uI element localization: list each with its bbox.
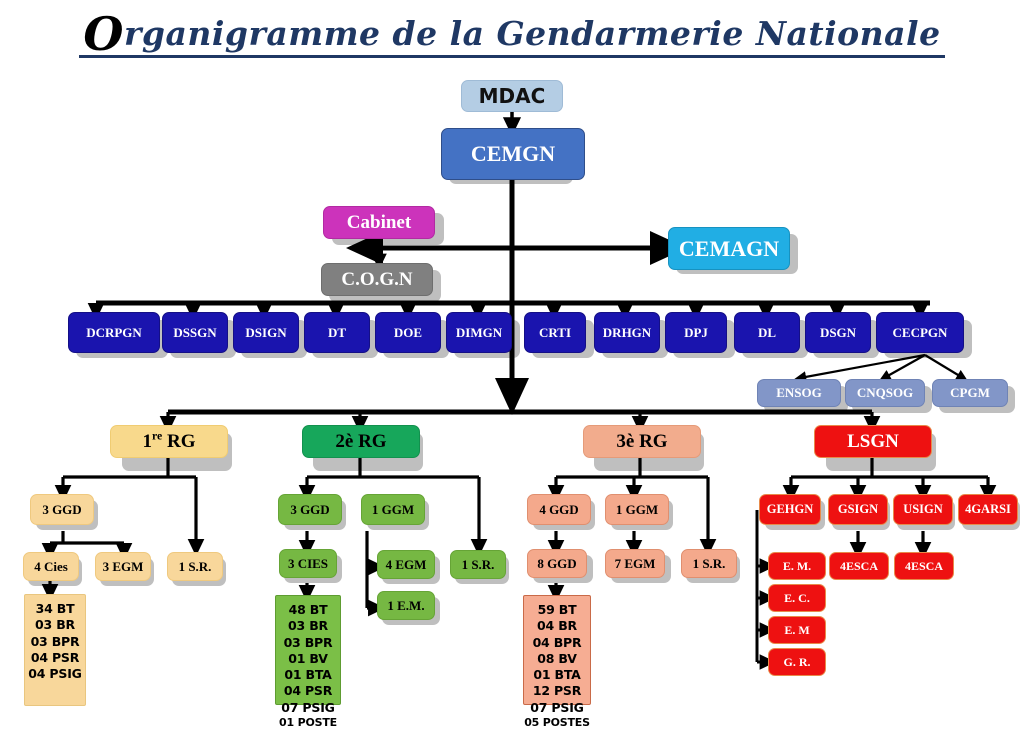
title-rest: rganigramme de la Gendarmerie Nationale xyxy=(124,14,941,53)
list-region-1: 34 BT03 BR03 BPR04 PSR04 PSIG xyxy=(24,594,86,706)
region-1-label: 1re RG xyxy=(143,432,196,452)
list-region-2: 48 BT03 BR03 BPR01 BV01 BTA04 PSR07 PSIG… xyxy=(275,595,341,705)
list-item: 03 BR xyxy=(35,617,75,633)
list-item: 12 PSR xyxy=(533,683,581,699)
node-cogn[interactable]: C.O.G.N xyxy=(321,263,433,296)
node-directorate-dsgn[interactable]: DSGN xyxy=(805,312,871,353)
node-gehgn-gr[interactable]: G. R. xyxy=(768,648,826,676)
node-rg3-8ggd[interactable]: 8 GGD xyxy=(527,549,587,578)
list-item: 03 BR xyxy=(288,618,328,634)
list-item: 34 BT xyxy=(36,601,75,617)
node-directorate-dsign[interactable]: DSIGN xyxy=(233,312,299,353)
node-usign[interactable]: USIGN xyxy=(893,494,953,525)
list-item: 05 POSTES xyxy=(524,716,590,730)
node-rg1-4cies[interactable]: 4 Cies xyxy=(23,552,79,581)
list-item: 59 BT xyxy=(538,602,577,618)
node-rg3-1sr[interactable]: 1 S.R. xyxy=(681,549,737,578)
node-4garsi[interactable]: 4GARSI xyxy=(958,494,1018,525)
node-region-2[interactable]: 2è RG xyxy=(302,425,420,458)
list-item: 01 BTA xyxy=(533,667,580,683)
node-usign-4esca[interactable]: 4ESCA xyxy=(894,552,954,580)
node-rg3-1ggm[interactable]: 1 GGM xyxy=(605,494,669,525)
list-item: 04 BPR xyxy=(533,635,582,651)
node-rg1-3ggd[interactable]: 3 GGD xyxy=(30,494,94,525)
chart-title: Organigramme de la Gendarmerie Nationale xyxy=(79,14,944,58)
node-gsign-4esca[interactable]: 4ESCA xyxy=(829,552,889,580)
node-gehgn-em2[interactable]: E. M xyxy=(768,616,826,644)
node-rg2-3cies[interactable]: 3 CIES xyxy=(279,549,337,578)
node-directorate-dimgn[interactable]: DIMGN xyxy=(446,312,512,353)
node-directorate-doe[interactable]: DOE xyxy=(375,312,441,353)
organigramme-canvas: Organigramme de la Gendarmerie Nationale xyxy=(0,0,1024,724)
node-directorate-dcrpgn[interactable]: DCRPGN xyxy=(68,312,160,353)
node-gehgn-em1[interactable]: E. M. xyxy=(768,552,826,580)
node-rg2-4egm[interactable]: 4 EGM xyxy=(377,550,435,579)
node-cemagn[interactable]: CEMAGN xyxy=(668,227,790,270)
node-directorate-drhgn[interactable]: DRHGN xyxy=(594,312,660,353)
list-region-3: 59 BT04 BR04 BPR08 BV01 BTA12 PSR07 PSIG… xyxy=(523,595,591,705)
node-gehgn[interactable]: GEHGN xyxy=(759,494,821,525)
list-item: 48 BT xyxy=(289,602,328,618)
list-item: 03 BPR xyxy=(31,634,80,650)
node-rg3-4ggd[interactable]: 4 GGD xyxy=(527,494,591,525)
node-rg1-1sr[interactable]: 1 S.R. xyxy=(167,552,223,581)
node-rg2-1sr[interactable]: 1 S.R. xyxy=(450,550,506,579)
node-rg2-3ggd[interactable]: 3 GGD xyxy=(278,494,342,525)
node-rg2-1ggm[interactable]: 1 GGM xyxy=(361,494,425,525)
node-rg1-3egm[interactable]: 3 EGM xyxy=(95,552,151,581)
node-school-cnqsog[interactable]: CNQSOG xyxy=(845,379,925,407)
node-rg3-7egm[interactable]: 7 EGM xyxy=(605,549,665,578)
node-region-3[interactable]: 3è RG xyxy=(583,425,701,458)
list-item: 04 PSIG xyxy=(28,666,81,682)
node-directorate-dt[interactable]: DT xyxy=(304,312,370,353)
node-cemgn[interactable]: CEMGN xyxy=(441,128,585,180)
node-directorate-crti[interactable]: CRTI xyxy=(524,312,586,353)
node-gsign[interactable]: GSIGN xyxy=(828,494,888,525)
chart-title-wrap: Organigramme de la Gendarmerie Nationale xyxy=(0,14,1024,58)
node-directorate-dl[interactable]: DL xyxy=(734,312,800,353)
node-gehgn-ec[interactable]: E. C. xyxy=(768,584,826,612)
list-item: 01 BV xyxy=(288,651,327,667)
node-mdac[interactable]: MDAC xyxy=(461,80,563,112)
node-directorate-dssgn[interactable]: DSSGN xyxy=(162,312,228,353)
list-item: 03 BPR xyxy=(284,635,333,651)
list-item: 04 PSR xyxy=(31,650,79,666)
node-region-1[interactable]: 1re RG xyxy=(110,425,228,458)
list-item: 08 BV xyxy=(537,651,576,667)
node-cabinet[interactable]: Cabinet xyxy=(323,206,435,239)
node-school-cpgm[interactable]: CPGM xyxy=(932,379,1008,407)
node-school-ensog[interactable]: ENSOG xyxy=(757,379,841,407)
list-item: 04 PSR xyxy=(284,683,332,699)
node-region-lsgn[interactable]: LSGN xyxy=(814,425,932,458)
list-item: 01 POSTE xyxy=(279,716,337,730)
node-directorate-cecpgn[interactable]: CECPGN xyxy=(876,312,964,353)
list-item: 07 PSIG xyxy=(530,700,583,716)
node-directorate-dpj[interactable]: DPJ xyxy=(665,312,727,353)
list-item: 01 BTA xyxy=(284,667,331,683)
list-item: 04 BR xyxy=(537,618,577,634)
list-item: 07 PSIG xyxy=(281,700,334,716)
node-rg2-1em[interactable]: 1 E.M. xyxy=(377,591,435,620)
title-initial: O xyxy=(83,7,124,61)
